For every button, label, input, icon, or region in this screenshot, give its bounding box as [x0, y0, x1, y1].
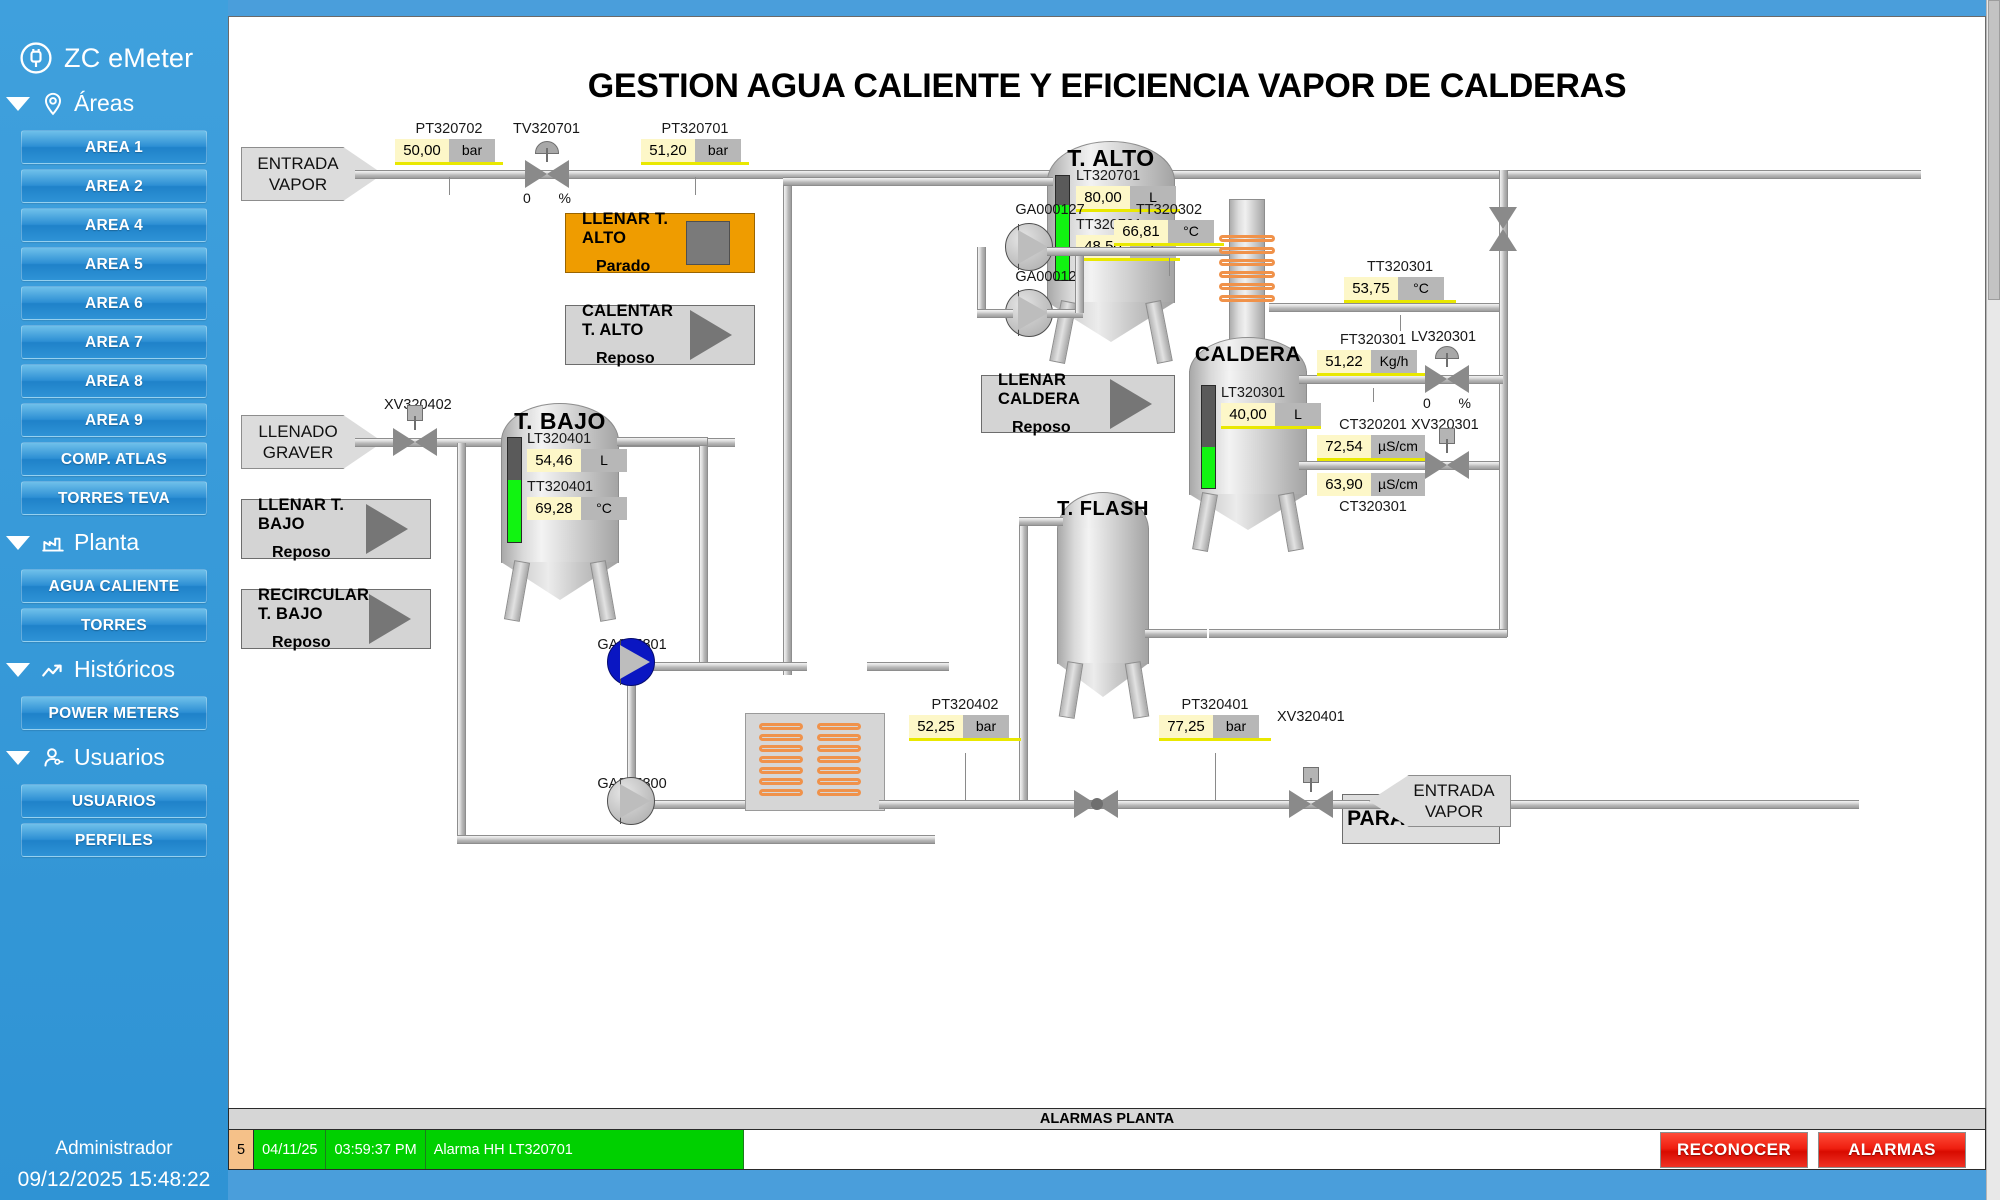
sidebar-group-label: Áreas: [74, 90, 134, 117]
readout-tt320301: TT320301 53,75 °C: [1344, 259, 1456, 303]
trend-chart-icon: [40, 657, 66, 683]
sidebar-item-agua-caliente[interactable]: AGUA CALIENTE: [21, 569, 207, 603]
coil-left: [759, 723, 803, 801]
sidebar-item-perfiles[interactable]: PERFILES: [21, 823, 207, 857]
button-reconocer[interactable]: RECONOCER: [1660, 1132, 1808, 1168]
sidebar-group-planta[interactable]: Planta: [0, 515, 228, 564]
app-title: ZC eMeter: [64, 43, 193, 74]
page-title: GESTION AGUA CALIENTE Y EFICIENCIA VAPOR…: [229, 67, 1985, 106]
sidebar-item-area-7[interactable]: AREA 7: [21, 325, 207, 359]
user-icon: [40, 745, 66, 771]
pipe-tbajo-right: [699, 437, 708, 671]
button-calentar-t-alto[interactable]: CALENTAR T. ALTO Reposo: [565, 305, 755, 365]
pump-ga005801[interactable]: [607, 638, 655, 686]
sidebar-item-torres[interactable]: TORRES: [21, 608, 207, 642]
pipe-pump-branch-down: [977, 247, 986, 317]
valve-body-icon: [393, 428, 437, 456]
stop-square-icon: [686, 221, 730, 265]
sidebar-item-area-4[interactable]: AREA 4: [21, 208, 207, 242]
chevron-down-icon: [6, 663, 30, 677]
label-ga000128: GA000128: [995, 269, 1105, 285]
sidebar-group-label: Históricos: [74, 656, 175, 683]
pipe-caldera-blowdown-a: [1299, 375, 1503, 384]
pipe-coil-out: [1269, 303, 1507, 312]
tank-label: T. FLASH: [1057, 498, 1149, 521]
sidebar-item-power-meters[interactable]: POWER METERS: [21, 696, 207, 730]
alarm-time: 03:59:37 PM: [326, 1130, 425, 1169]
level-bar-t-alto: [1055, 175, 1070, 281]
readout-tt320302: TT320302 66,81 °C: [1114, 202, 1224, 246]
valve-body-icon: [525, 160, 569, 188]
alarm-bar: ALARMAS PLANTA 5 04/11/25 03:59:37 PM Al…: [228, 1108, 1986, 1170]
sidebar-item-usuarios[interactable]: USUARIOS: [21, 784, 207, 818]
pipe-bottom-return: [1209, 629, 1507, 638]
pipe-pump-merge: [1075, 247, 1084, 313]
current-datetime: 09/12/2025 15:48:22: [0, 1168, 228, 1192]
sidebar-item-area-5[interactable]: AREA 5: [21, 247, 207, 281]
valve-body-icon: [1289, 790, 1333, 818]
button-llenar-t-alto[interactable]: LLENAR T. ALTO Parado: [565, 213, 755, 273]
readout-pt320702: PT320702 50,00 bar: [395, 121, 503, 165]
readout-pt320701: PT320701 51,20 bar: [641, 121, 749, 165]
coil-stack-exchanger: [1219, 235, 1275, 307]
current-user: Administrador: [0, 1138, 228, 1168]
button-recircular-t-bajo[interactable]: RECIRCULAR T. BAJO Reposo: [241, 589, 431, 649]
play-triangle-icon: [1110, 379, 1152, 429]
play-triangle-icon: [366, 504, 408, 554]
user-info: Administrador 09/12/2025 15:48:22: [0, 1138, 228, 1192]
sidebar-item-area-2[interactable]: AREA 2: [21, 169, 207, 203]
sidebar-group-usuarios[interactable]: Usuarios: [0, 730, 228, 779]
sidebar-group-historicos[interactable]: Históricos: [0, 642, 228, 691]
sidebar-item-comp-atlas[interactable]: COMP. ATLAS: [21, 442, 207, 476]
sidebar-group-label: Planta: [74, 529, 139, 556]
sidebar-item-area-6[interactable]: AREA 6: [21, 286, 207, 320]
coil-right: [817, 723, 861, 801]
plug-logo-icon: [18, 40, 54, 76]
pipe-xv320301-return: [1499, 461, 1508, 637]
valve-body-icon: [1425, 451, 1469, 479]
button-llenar-t-bajo[interactable]: LLENAR T. BAJO Reposo: [241, 499, 431, 559]
pipe-tflash-outlet: [1145, 629, 1207, 638]
tank-t-flash: T. FLASH: [1057, 492, 1149, 682]
pipe-talto-down: [783, 177, 792, 675]
value: 50,00: [395, 139, 449, 162]
pump-ga005800[interactable]: [607, 777, 655, 825]
readout-lt320401: LT320401 54,46 L: [527, 431, 627, 472]
pipe-talto-to-tank: [783, 177, 1053, 186]
play-triangle-icon: [690, 310, 732, 360]
level-bar-t-bajo: [507, 437, 522, 543]
unit: bar: [449, 139, 495, 162]
valve-body-icon: [1425, 365, 1469, 393]
sidebar-item-area-9[interactable]: AREA 9: [21, 403, 207, 437]
alarm-bar-title: ALARMAS PLANTA: [228, 1108, 1986, 1130]
readout-pt320401: PT320401 77,25 bar: [1159, 697, 1271, 741]
pipe-tbajo-bottom: [457, 835, 935, 844]
pipe-tbajo-left-riser: [457, 443, 466, 843]
location-pin-icon: [40, 91, 66, 117]
pipe-tflash-inlet: [1019, 517, 1063, 526]
readout-lt320301: LT320301 40,00 L: [1221, 385, 1321, 429]
sidebar-group-label: Usuarios: [74, 744, 165, 771]
sidebar-item-area-8[interactable]: AREA 8: [21, 364, 207, 398]
chevron-down-icon: [6, 751, 30, 765]
app-brand: ZC eMeter: [0, 0, 228, 76]
pipe-tbajo-to-pump: [617, 437, 707, 446]
sidebar-item-area-1[interactable]: AREA 1: [21, 130, 207, 164]
readout-tt320401: TT320401 69,28 °C: [527, 479, 627, 520]
label-ga000127: GA000127: [995, 202, 1105, 218]
label-lv320301: LV320301: [1411, 329, 1476, 345]
chevron-down-icon: [6, 536, 30, 550]
pipe-bottom-steam: [879, 800, 1859, 809]
level-bar-caldera: [1201, 385, 1216, 489]
readout-ct320301: 63,90 µS/cm CT320301: [1317, 471, 1429, 515]
button-alarmas[interactable]: ALARMAS: [1818, 1132, 1966, 1168]
alarm-row[interactable]: 5 04/11/25 03:59:37 PM Alarma HH LT32070…: [229, 1130, 744, 1169]
pipe-pump5801-out: [867, 662, 949, 671]
sidebar-group-areas[interactable]: Áreas: [0, 76, 228, 125]
alarm-message: Alarma HH LT320701: [426, 1130, 744, 1169]
sidebar: ZC eMeter Áreas AREA 1 AREA 2 AREA 4 ARE…: [0, 0, 228, 1200]
play-triangle-icon: [369, 594, 411, 644]
pump-ga000127[interactable]: [1005, 223, 1053, 271]
valve-center-dot-icon: [1091, 798, 1103, 810]
button-llenar-caldera[interactable]: LLENAR CALDERA Reposo: [981, 375, 1175, 433]
process-mimic-panel: GESTION AGUA CALIENTE Y EFICIENCIA VAPOR…: [228, 16, 1986, 1166]
sidebar-item-torres-teva[interactable]: TORRES TEVA: [21, 481, 207, 515]
chevron-down-icon: [6, 97, 30, 111]
factory-icon: [40, 530, 66, 556]
readout-pt320402: PT320402 52,25 bar: [909, 697, 1021, 741]
scrollbar-thumb[interactable]: [1988, 0, 2000, 300]
pipe-tflash-left: [1019, 517, 1028, 717]
label-tv320701: TV320701: [513, 121, 580, 137]
valve-manual-top-right[interactable]: [1489, 207, 1517, 251]
alarm-count: 5: [229, 1130, 254, 1169]
window-scrollbar[interactable]: [1986, 0, 2000, 1200]
pipe-caldera-blowdown-b: [1299, 461, 1499, 470]
tank-label: CALDERA: [1189, 343, 1307, 367]
alarm-date: 04/11/25: [254, 1130, 326, 1169]
label-xv320401: XV320401: [1277, 709, 1345, 725]
pipe-pump-branch-bottom: [977, 309, 1013, 318]
